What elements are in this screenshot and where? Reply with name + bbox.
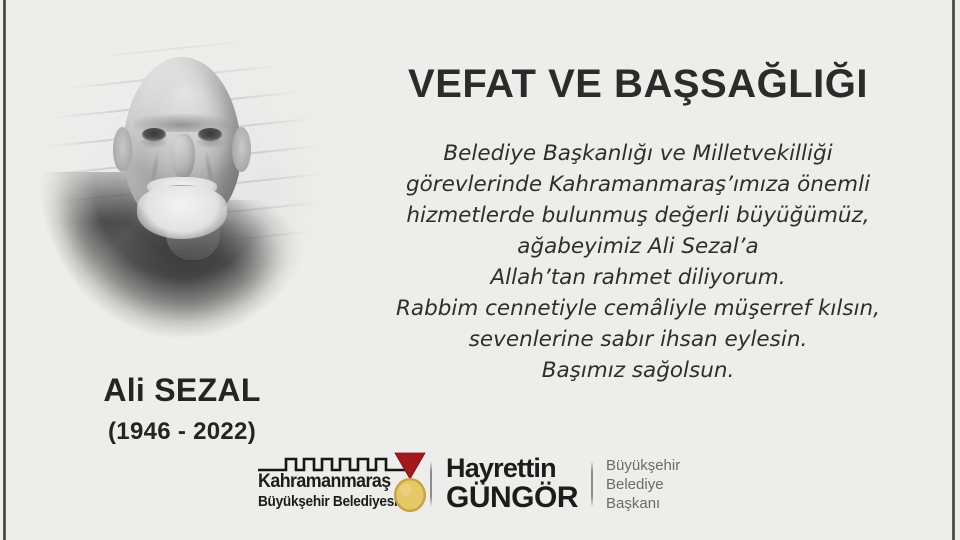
message-line-8: Başımız sağolsun. — [358, 355, 918, 386]
deceased-dates: (1946 - 2022) — [22, 418, 342, 446]
message-line-6: Rabbim cennetiyle cemâliyle müşerref kıl… — [358, 293, 918, 324]
signature-logo-bar: Kahramanmaraş Büyükşehir Belediyesi Hayr… — [255, 448, 715, 520]
portrait-eye-shadow-right — [196, 138, 224, 149]
message-line-4: ağabeyimiz Ali Sezal’a — [358, 231, 918, 262]
right-edge-rail — [952, 0, 955, 540]
deceased-portrait — [22, 18, 342, 368]
portrait-vignette — [22, 18, 342, 368]
municipality-logo: Kahramanmaraş Büyükşehir Belediyesi — [255, 450, 430, 518]
municipality-name: Kahramanmaraş — [258, 471, 391, 493]
condolence-message: Belediye Başkanlığı ve Milletvekilliğigö… — [358, 138, 918, 386]
message-line-1: Belediye Başkanlığı ve Milletvekilliği — [358, 138, 918, 169]
municipality-subtitle: Büyükşehir Belediyesi — [258, 494, 398, 510]
deceased-name: Ali SEZAL — [22, 372, 342, 409]
message-line-7: sevenlerine sabır ihsan eylesin. — [358, 324, 918, 355]
portrait-beard — [137, 186, 227, 239]
left-edge-rail — [3, 0, 6, 540]
condolence-announcement-card: Ali SEZAL (1946 - 2022) VEFAT VE BAŞSAĞL… — [0, 0, 960, 540]
mayor-title-line-1: Büyükşehir — [606, 456, 680, 475]
mayor-title: Büyükşehir Belediye Başkanı — [593, 456, 680, 513]
medal-icon — [389, 452, 431, 514]
mayor-title-line-3: Başkanı — [606, 494, 680, 513]
message-line-2: görevlerinde Kahramanmaraş’ımıza önemli — [358, 169, 918, 200]
page-title: VEFAT VE BAŞSAĞLIĞI — [358, 62, 918, 107]
mayor-title-line-2: Belediye — [606, 475, 680, 494]
portrait-ear-right — [232, 127, 251, 173]
mayor-last-name: GÜNGÖR — [446, 483, 578, 513]
portrait-nose — [171, 134, 195, 180]
mayor-first-name: Hayrettin — [446, 455, 578, 482]
message-line-5: Allah’tan rahmet diliyorum. — [358, 262, 918, 293]
mayor-name-block: Hayrettin GÜNGÖR — [432, 455, 591, 513]
message-line-3: hizmetlerde bulunmuş değerli büyüğümüz, — [358, 200, 918, 231]
